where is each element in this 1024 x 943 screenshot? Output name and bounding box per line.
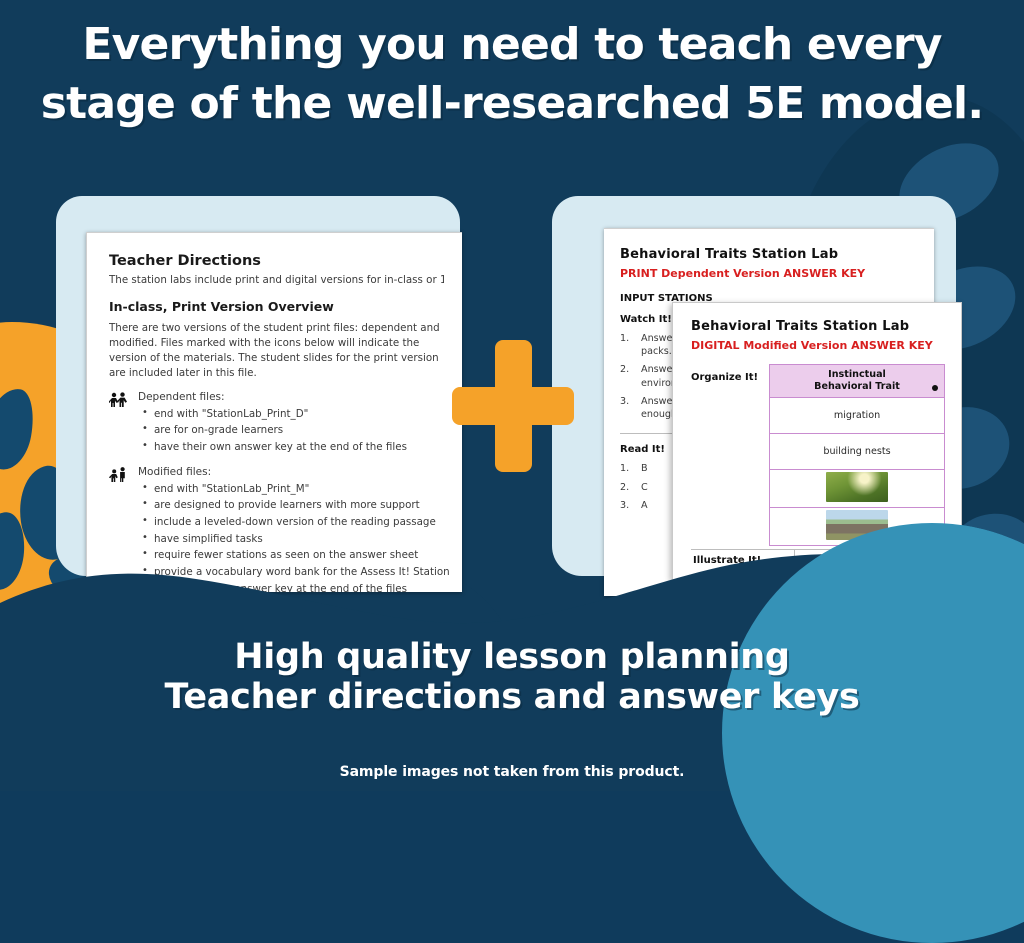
plus-icon	[452, 340, 574, 472]
organize-it-label: Organize It!	[691, 364, 769, 383]
headline: Everything you need to teach every stage…	[0, 16, 1024, 133]
answer-number: 3.	[620, 499, 632, 512]
table-header-line2: Behavioral Trait	[814, 381, 900, 392]
list-item: provide a vocabulary word bank for the A…	[154, 564, 444, 581]
bottom-text-line-1: High quality lesson planning	[0, 638, 1024, 678]
doc-section-heading: In-class, Print Version Overview	[109, 299, 444, 314]
answer-number: 1.	[620, 462, 632, 475]
grass-field-photo	[826, 472, 888, 502]
doc-title: Teacher Directions	[109, 253, 444, 269]
modified-files-title: Modified files:	[138, 466, 444, 478]
list-item: include a leveled-down version of the re…	[154, 514, 444, 531]
table-row	[770, 469, 945, 507]
doc-intro: The station labs include print and digit…	[109, 273, 444, 288]
headline-line-1: Everything you need to teach every	[82, 19, 941, 70]
doc-subtitle: PRINT Dependent Version ANSWER KEY	[620, 267, 920, 280]
doc-title: Behavioral Traits Station Lab	[691, 319, 949, 334]
answer-number: 1.	[620, 332, 632, 358]
dependent-files-group: Dependent files: end with "StationLab_Pr…	[109, 391, 444, 456]
list-item: are designed to provide learners with mo…	[154, 497, 444, 514]
modified-files-body: Modified files: end with "StationLab_Pri…	[138, 466, 444, 592]
list-item: are for on-grade learners	[154, 422, 444, 439]
answer-number: 3.	[620, 395, 632, 421]
list-item: end with "StationLab_Print_D"	[154, 406, 444, 423]
answer-number: 2.	[620, 481, 632, 494]
dependent-files-title: Dependent files:	[138, 391, 444, 403]
bottom-text: High quality lesson planning Teacher dir…	[0, 638, 1024, 718]
list-item: require fewer stations as seen on the an…	[154, 547, 444, 564]
doc-subtitle: DIGITAL Modified Version ANSWER KEY	[691, 339, 949, 352]
bottom-text-line-2: Teacher directions and answer keys	[0, 678, 1024, 718]
dependent-files-list: end with "StationLab_Print_D" are for on…	[138, 406, 444, 456]
organize-it-row: Organize It! Instinctual Behavioral Trai…	[691, 364, 949, 546]
modified-files-list: end with "StationLab_Print_M" are design…	[138, 481, 444, 592]
list-item: have their own answer key at the end of …	[154, 581, 444, 592]
illustrate-it-label: Illustrate It!	[691, 550, 795, 573]
dependent-files-body: Dependent files: end with "StationLab_Pr…	[138, 391, 444, 456]
two-people-walking-icon	[109, 391, 129, 456]
person-helping-person-icon	[109, 466, 129, 592]
table-header: Instinctual Behavioral Trait	[770, 365, 945, 398]
teacher-directions-document: Teacher Directions The station labs incl…	[86, 232, 462, 592]
table-row: migration	[770, 397, 945, 433]
instinctual-behavioral-trait-table: Instinctual Behavioral Trait migration b…	[769, 364, 945, 546]
headline-line-2: stage of the well-researched 5E model.	[0, 75, 1024, 134]
footnote: Sample images not taken from this produc…	[0, 764, 1024, 780]
table-row: building nests	[770, 433, 945, 469]
list-item: have their own answer key at the end of …	[154, 439, 444, 456]
doc-section-body: There are two versions of the student pr…	[109, 321, 444, 381]
table-header-line1: Instinctual	[828, 369, 886, 380]
answer-number: 2.	[620, 363, 632, 389]
drag-dot-marker-icon[interactable]	[932, 385, 938, 391]
list-item: have simplified tasks	[154, 531, 444, 548]
modified-files-group: Modified files: end with "StationLab_Pri…	[109, 466, 444, 592]
doc-title: Behavioral Traits Station Lab	[620, 247, 920, 262]
list-item: end with "StationLab_Print_M"	[154, 481, 444, 498]
